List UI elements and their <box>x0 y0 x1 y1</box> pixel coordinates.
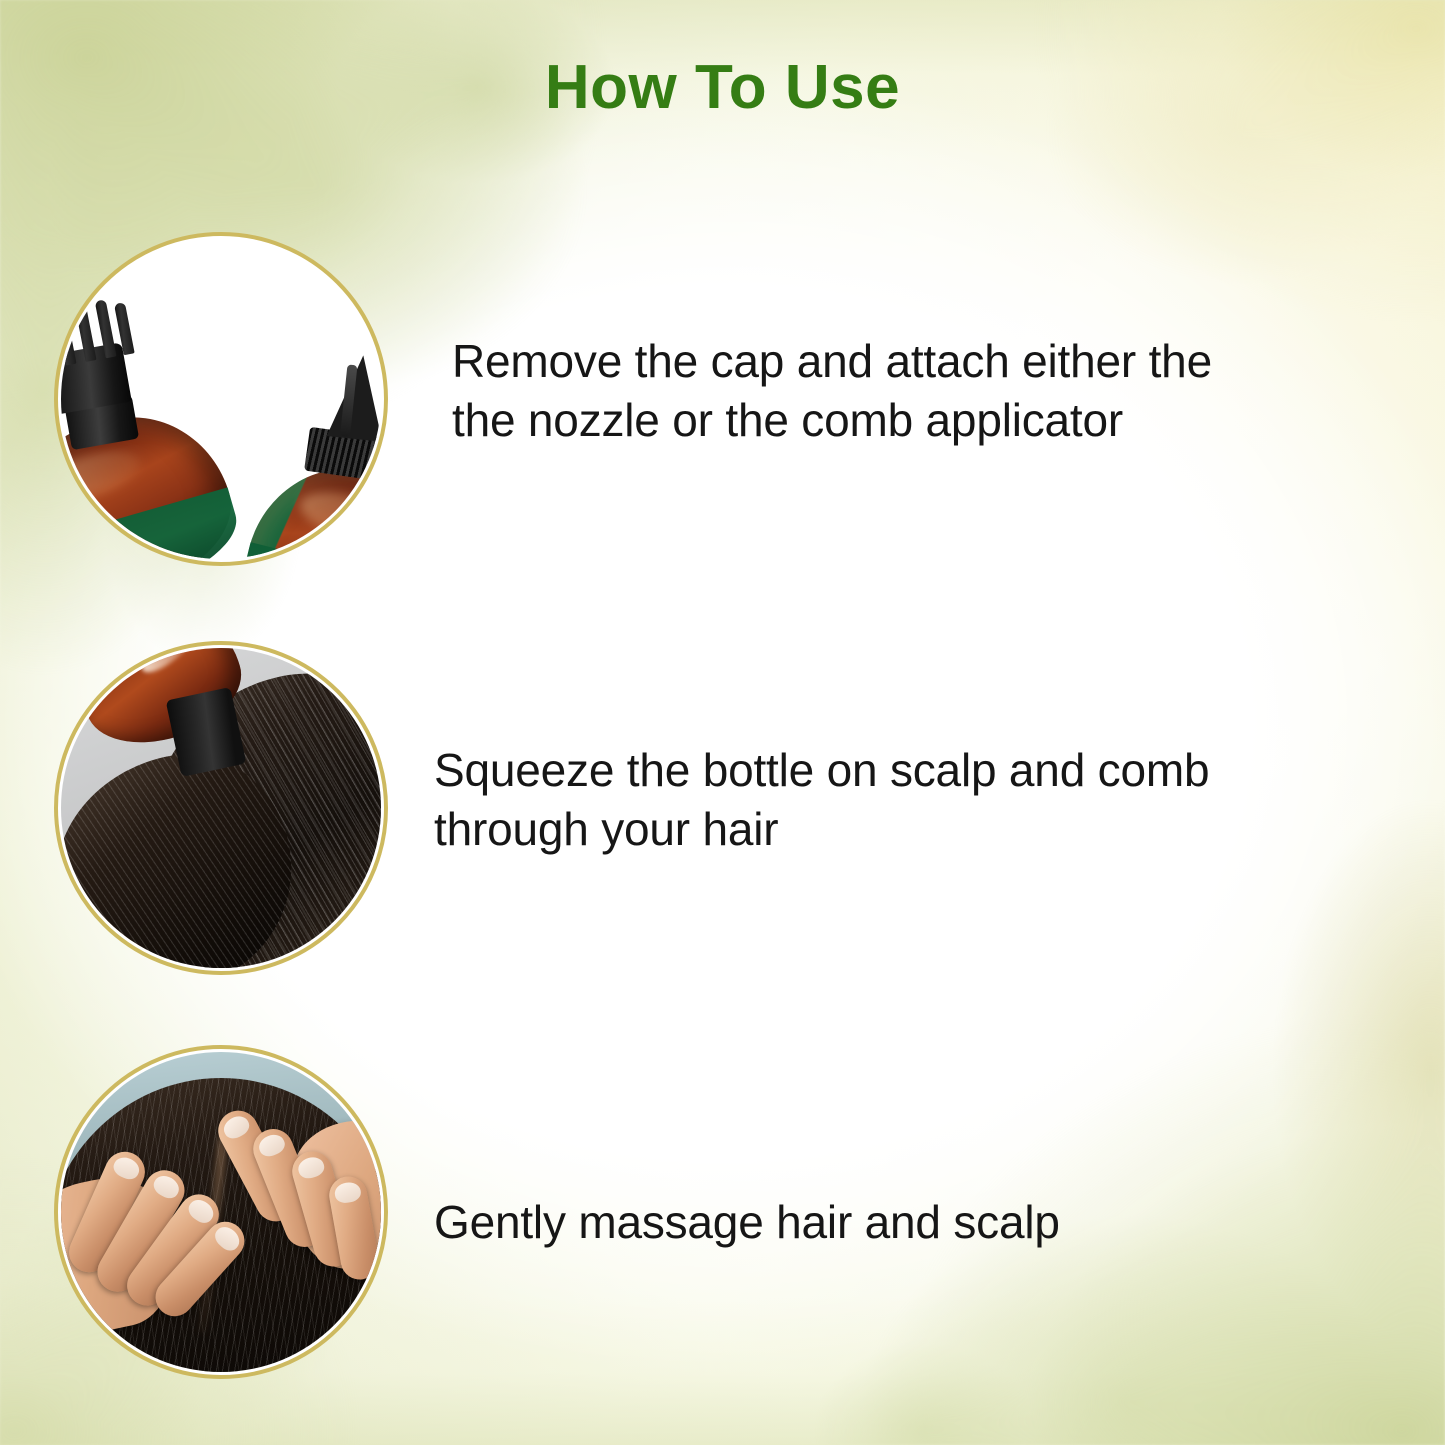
step-3-text: Gently massage hair and scalp <box>434 1193 1314 1252</box>
step-2-photo <box>54 641 388 975</box>
step-3: Gently massage hair and scalp <box>0 1045 1445 1385</box>
comb-applicator-bottle <box>61 361 262 559</box>
nozzle-applicator-bottle <box>237 411 381 559</box>
step-2-text: Squeeze the bottle on scalp and comb thr… <box>434 741 1314 859</box>
step-3-line-1: Gently massage hair and scalp <box>434 1193 1314 1252</box>
step-1: Remove the cap and attach either the the… <box>0 232 1445 572</box>
step-2-line-2: through your hair <box>434 800 1314 859</box>
step-1-text: Remove the cap and attach either the the… <box>452 332 1332 450</box>
step-1-line-1: Remove the cap and attach either the <box>452 332 1332 391</box>
bottle-applicators-illustration <box>61 239 381 559</box>
page-title: How To Use <box>0 52 1445 123</box>
combing-onto-scalp-illustration <box>61 648 381 968</box>
step-1-photo <box>54 232 388 566</box>
how-to-use-infographic: How To Use <box>0 0 1445 1445</box>
scalp-massage-illustration <box>61 1052 381 1372</box>
step-2-line-1: Squeeze the bottle on scalp and comb <box>434 741 1314 800</box>
step-1-line-2: the nozzle or the comb applicator <box>452 391 1332 450</box>
step-2: Squeeze the bottle on scalp and comb thr… <box>0 641 1445 981</box>
step-3-photo <box>54 1045 388 1379</box>
